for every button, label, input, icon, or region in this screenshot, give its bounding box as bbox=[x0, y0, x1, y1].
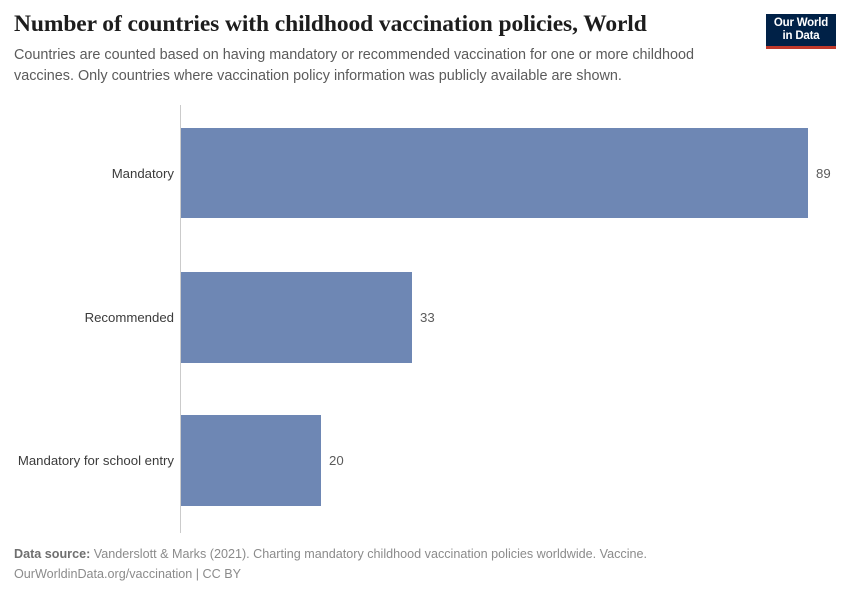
bar-value-label: 20 bbox=[329, 453, 344, 468]
data-source-line: Data source: Vanderslott & Marks (2021).… bbox=[14, 544, 814, 564]
bar-mandatory-for-school-entry[interactable] bbox=[181, 415, 321, 506]
category-label: Mandatory for school entry bbox=[0, 453, 174, 468]
bar-value-label: 89 bbox=[816, 166, 831, 181]
data-source-label: Data source: bbox=[14, 547, 90, 561]
bar-recommended[interactable] bbox=[181, 272, 412, 363]
bar-value-label: 33 bbox=[420, 310, 435, 325]
category-label: Recommended bbox=[0, 310, 174, 325]
data-source-text: Vanderslott & Marks (2021). Charting man… bbox=[90, 547, 647, 561]
bar-chart-plot-area: Mandatory 89 Recommended 33 Mandatory fo… bbox=[0, 0, 850, 600]
chart-footer: Data source: Vanderslott & Marks (2021).… bbox=[14, 544, 814, 584]
category-label: Mandatory bbox=[0, 166, 174, 181]
license-line[interactable]: OurWorldinData.org/vaccination | CC BY bbox=[14, 564, 814, 584]
bar-mandatory[interactable] bbox=[181, 128, 808, 218]
